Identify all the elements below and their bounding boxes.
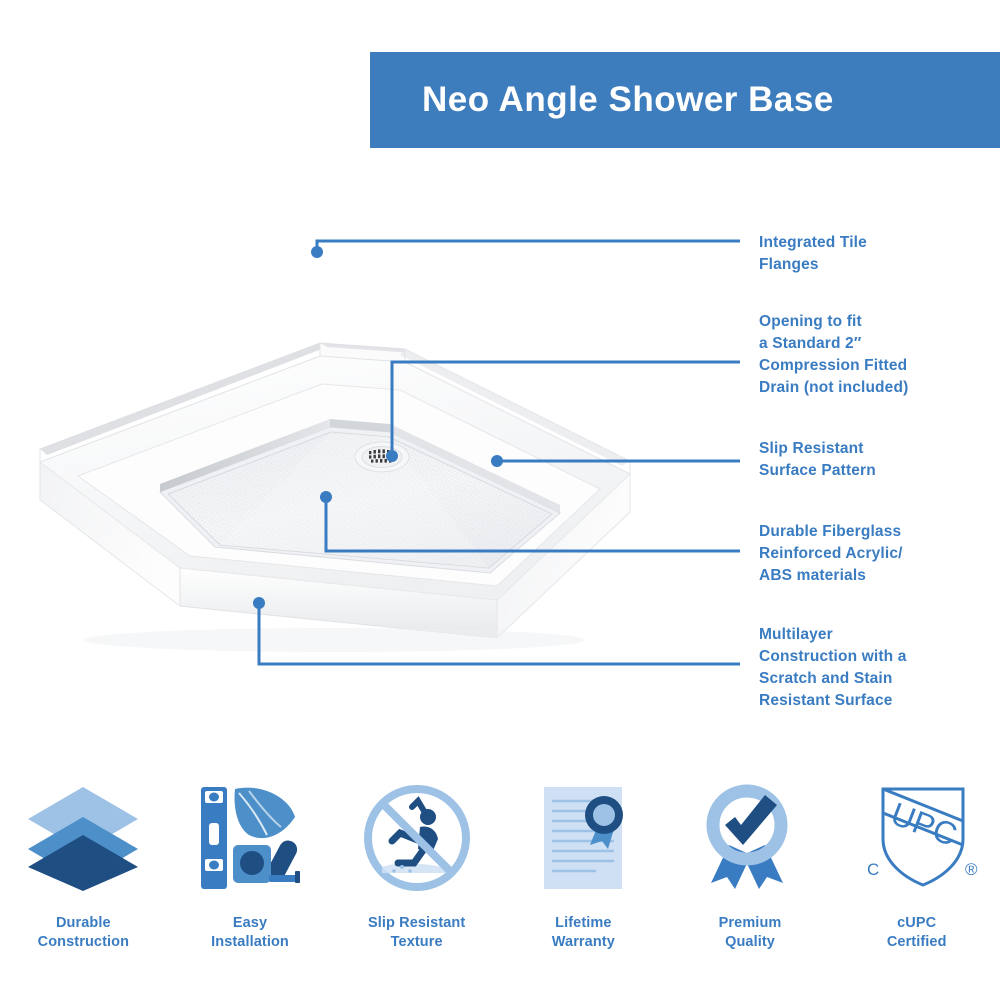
feature-label-line: Lifetime [552, 914, 615, 933]
feature-label: cUPC Certified [887, 914, 947, 952]
callout-line: Integrated Tile [759, 232, 867, 254]
callout-line: Slip Resistant [759, 438, 876, 460]
feature-label: Slip Resistant Texture [368, 914, 465, 952]
feature-durable-construction: Durable Construction [0, 780, 167, 980]
feature-cupc-certified: UPC C ® cUPC Certified [833, 780, 1000, 980]
callout-integrated-tile-flanges: Integrated Tile Flanges [759, 232, 867, 276]
no-slip-icon [352, 780, 482, 898]
title-banner: Neo Angle Shower Base [370, 52, 1000, 148]
quality-ribbon-icon [685, 780, 815, 898]
layers-icon [18, 780, 148, 898]
callout-dot-flanges [311, 246, 323, 258]
callout-line: Drain (not included) [759, 377, 908, 399]
callout-line: Flanges [759, 254, 867, 276]
callout-drain-opening: Opening to fit a Standard 2″ Compression… [759, 311, 908, 399]
feature-label-line: Easy [211, 914, 289, 933]
callout-line: Resistant Surface [759, 690, 907, 712]
callout-line: Scratch and Stain [759, 668, 907, 690]
callout-line: Multilayer [759, 624, 907, 646]
feature-label-line: cUPC [887, 914, 947, 933]
cupc-shield-icon: UPC C ® [852, 780, 982, 898]
callout-multilayer-construction: Multilayer Construction with a Scratch a… [759, 624, 907, 712]
shield-left-mark: C [867, 860, 879, 879]
infographic-root: Neo Angle Shower Base [0, 0, 1000, 1000]
feature-label-line: Installation [211, 933, 289, 952]
feature-label: Durable Construction [38, 914, 129, 952]
feature-label-line: Durable [38, 914, 129, 933]
drain-opening [355, 442, 409, 472]
certificate-icon [518, 780, 648, 898]
shield-right-mark: ® [965, 860, 978, 879]
page-title: Neo Angle Shower Base [422, 80, 834, 120]
feature-label: Lifetime Warranty [552, 914, 615, 952]
feature-label-line: Quality [719, 933, 782, 952]
callout-line: a Standard 2″ [759, 333, 908, 355]
leader-integrated-tile-flanges [317, 241, 740, 252]
feature-lifetime-warranty: Lifetime Warranty [500, 780, 667, 980]
callout-line: Opening to fit [759, 311, 908, 333]
callout-line: ABS materials [759, 565, 903, 587]
feature-label-line: Certified [887, 933, 947, 952]
callout-line: Surface Pattern [759, 460, 876, 482]
feature-label-line: Texture [368, 933, 465, 952]
feature-easy-installation: Easy Installation [167, 780, 334, 980]
callout-dot-fiberglass [320, 491, 332, 503]
shield-text: UPC [886, 795, 962, 853]
callout-line: Construction with a [759, 646, 907, 668]
callout-dot-multilayer [253, 597, 265, 609]
feature-label-line: Slip Resistant [368, 914, 465, 933]
feature-slip-resistant-texture: Slip Resistant Texture [333, 780, 500, 980]
callout-dot-drain [386, 450, 398, 462]
feature-premium-quality: Premium Quality [667, 780, 834, 980]
feature-label-line: Construction [38, 933, 129, 952]
callout-slip-resistant-surface: Slip Resistant Surface Pattern [759, 438, 876, 482]
shower-base-body [40, 343, 630, 652]
feature-label-line: Warranty [552, 933, 615, 952]
callout-dot-slip [491, 455, 503, 467]
callout-durable-fiberglass: Durable Fiberglass Reinforced Acrylic/ A… [759, 521, 903, 587]
callout-line: Compression Fitted [759, 355, 908, 377]
feature-label: Premium Quality [719, 914, 782, 952]
feature-label-line: Premium [719, 914, 782, 933]
callout-line: Reinforced Acrylic/ [759, 543, 903, 565]
feature-strip: Durable Construction [0, 780, 1000, 980]
feature-label: Easy Installation [211, 914, 289, 952]
callout-line: Durable Fiberglass [759, 521, 903, 543]
level-trowel-icon [185, 780, 315, 898]
